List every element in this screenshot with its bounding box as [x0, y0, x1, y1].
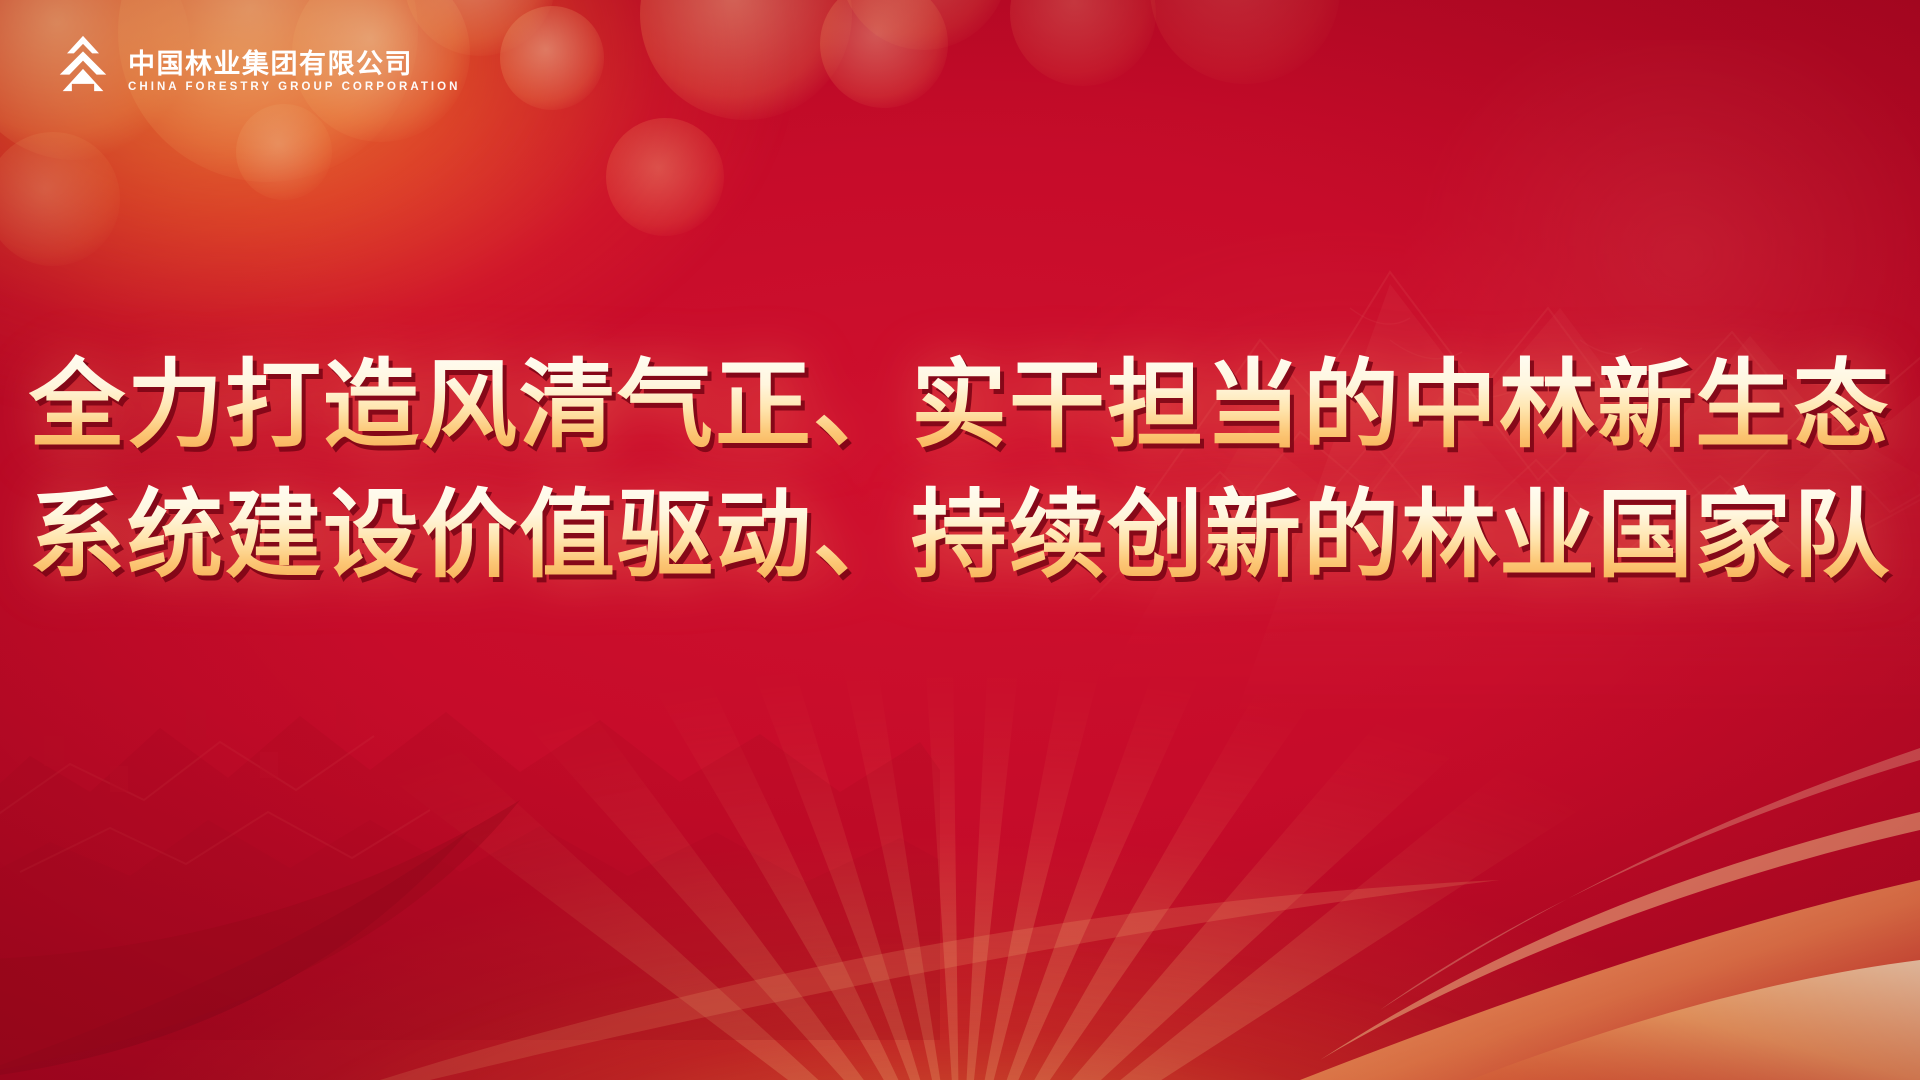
headline-line-2: 系统建设价值驱动、持续创新的林业国家队	[29, 482, 1891, 590]
brand-logo[interactable]: 中国林业集团有限公司 CHINA FORESTRY GROUP CORPORAT…	[52, 33, 461, 95]
company-name-cn: 中国林业集团有限公司	[128, 51, 461, 78]
brand-logo-text: 中国林业集团有限公司 CHINA FORESTRY GROUP CORPORAT…	[128, 51, 461, 96]
china-forestry-group-mountain-mark-icon	[52, 33, 114, 95]
headline-block: 全力打造风清气正、实干担当的中林新生态 系统建设价值驱动、持续创新的林业国家队	[0, 352, 1920, 589]
company-name-en: CHINA FORESTRY GROUP CORPORATION	[128, 82, 461, 94]
headline-line-1: 全力打造风清气正、实干担当的中林新生态	[29, 352, 1891, 460]
promotional-banner: 中国林业集团有限公司 CHINA FORESTRY GROUP CORPORAT…	[0, 0, 1920, 1080]
